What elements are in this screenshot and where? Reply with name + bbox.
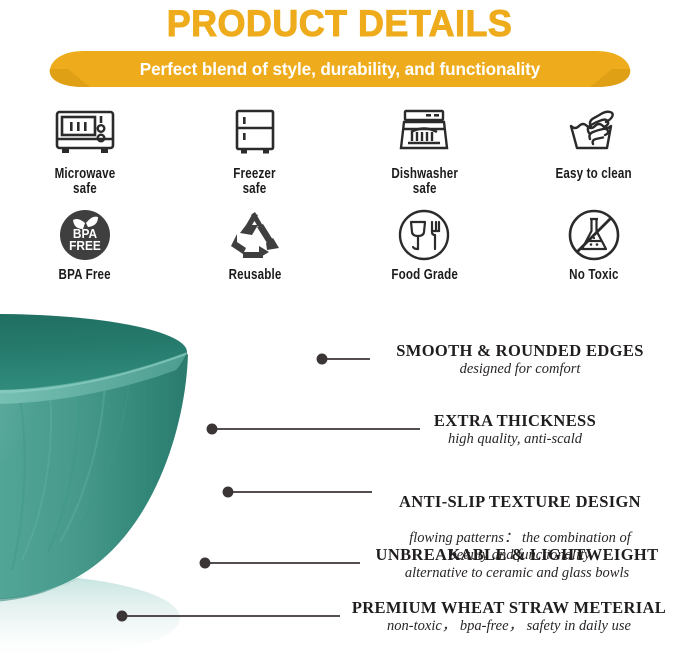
badge-label: Easy to clean [556,167,632,182]
badge-label: No Toxic [569,268,618,283]
callout-title: ANTI-SLIP TEXTURE DESIGN [370,492,670,511]
badge-label: Food Grade [391,268,458,283]
feature-badge-grid: Microwave safe [0,104,679,310]
badge-row-1: Microwave safe [0,104,679,207]
badge-bpa-free: BPA FREE BPA Free [0,207,170,310]
subtitle-text: Perfect blend of style, durability, and … [44,51,636,87]
callout-subtitle: non-toxic， bpa-free， safety in daily use [340,618,678,635]
callout-premium-wheat-straw: PREMIUM WHEAT STRAW METERIAL non-toxic， … [340,598,678,635]
badge-freezer-safe: Freezer safe [170,104,340,207]
callout-smooth-rounded-edges: SMOOTH & ROUNDED EDGES designed for comf… [370,341,670,378]
badge-label: Reusable [228,268,281,283]
callout-title: EXTRA THICKNESS [370,411,660,430]
dishwasher-icon [395,104,453,162]
badge-label: Freezer safe [233,167,275,197]
badge-label: Microwave safe [54,167,115,197]
badge-label: BPA Free [59,268,111,283]
badge-food-grade: Food Grade [340,207,510,310]
svg-text:FREE: FREE [69,239,101,253]
badge-easy-to-clean: Easy to clean [509,104,679,207]
callout-subtitle: alternative to ceramic and glass bowls [362,565,672,582]
callout-title: UNBREAKABLE & LIGHTWEIGHT [362,545,672,564]
callout-title: PREMIUM WHEAT STRAW METERIAL [340,598,678,617]
callout-extra-thickness: EXTRA THICKNESS high quality, anti-scald [370,411,660,448]
callout-subtitle: designed for comfort [370,361,670,378]
food-grade-icon [398,207,450,263]
callout-subtitle: high quality, anti-scald [370,431,660,448]
callout-unbreakable-lightweight: UNBREAKABLE & LIGHTWEIGHT alternative to… [362,545,672,582]
badge-no-toxic: No Toxic [509,207,679,310]
callout-title: SMOOTH & ROUNDED EDGES [370,341,670,360]
bpa-free-icon: BPA FREE [59,207,111,263]
badge-row-2: BPA FREE BPA Free [0,207,679,310]
subtitle-ribbon: Perfect blend of style, durability, and … [38,51,642,87]
badge-reusable: Reusable [170,207,340,310]
page-title: PRODUCT DETAILS [10,2,669,46]
badge-dishwasher-safe: Dishwasher safe [340,104,510,207]
badge-label: Dishwasher safe [391,167,458,197]
microwave-icon [54,104,116,162]
hand-wash-icon [565,104,623,162]
product-details-infographic: PRODUCT DETAILS Perfect blend of style, … [0,0,679,669]
recycle-icon [229,207,281,263]
freezer-icon [230,104,280,162]
no-toxic-icon [568,207,620,263]
badge-microwave-safe: Microwave safe [0,104,170,207]
